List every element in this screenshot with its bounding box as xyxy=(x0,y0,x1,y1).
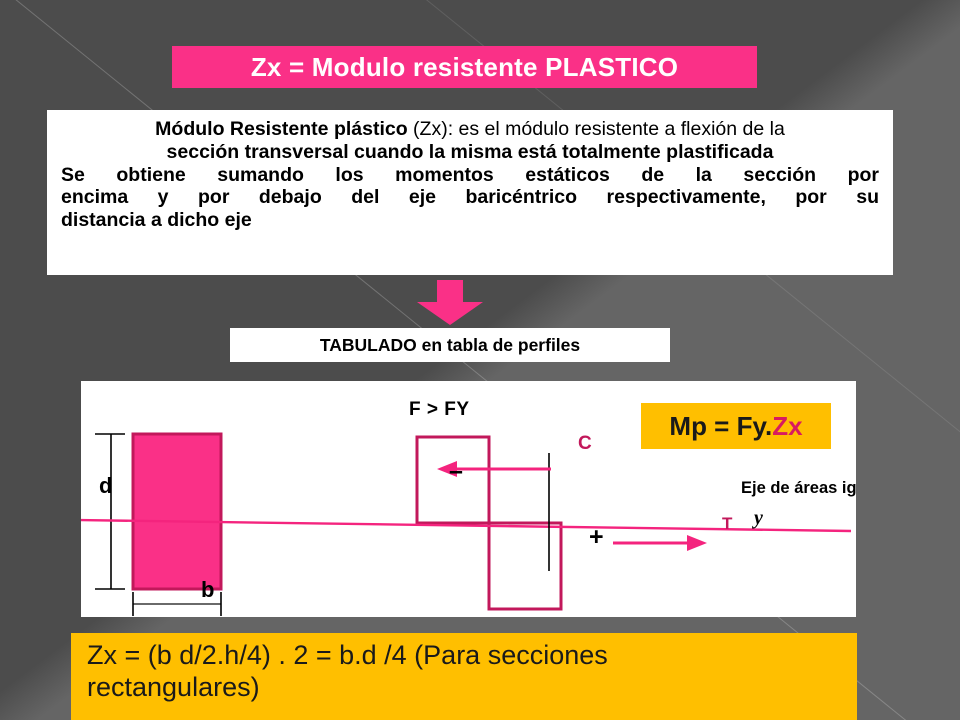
tension-force-arrowhead xyxy=(687,535,707,551)
stress-condition-label: F > FY xyxy=(409,399,470,421)
tension-force-label: T xyxy=(722,514,732,534)
definition-line-1: Módulo Resistente plástico (Zx): es el m… xyxy=(61,118,879,141)
mp-formula-zx: Zx xyxy=(772,411,802,441)
bottom-formula-box: Zx = (b d/2.h/4) . 2 = b.d /4 (Para secc… xyxy=(71,633,857,720)
slide-canvas: Zx = Modulo resistente PLASTICO Módulo R… xyxy=(0,0,960,720)
tabulado-label: TABULADO en tabla de perfiles xyxy=(320,335,580,356)
section-rectangle xyxy=(133,434,221,589)
definition-line-3-gap xyxy=(494,164,526,186)
definition-line-3-a: Se obtiene sumando los xyxy=(61,164,395,186)
definition-line-4: encima y por debajo del eje baricéntrico… xyxy=(61,186,879,209)
definition-line-3: Se obtiene sumando los momentos estático… xyxy=(61,164,879,187)
definition-line-3-e: de la sección por xyxy=(610,164,879,186)
dimension-label-b: b xyxy=(201,577,214,603)
title-banner: Zx = Modulo resistente PLASTICO xyxy=(172,46,757,88)
equal-area-axis-label: Eje de áreas iguales xyxy=(741,479,856,498)
tabulado-box: TABULADO en tabla de perfiles xyxy=(230,328,670,362)
page-title: Zx = Modulo resistente PLASTICO xyxy=(251,52,678,83)
definition-line-5: distancia a dicho eje xyxy=(61,209,879,232)
definition-emphasis-momentos: momentos xyxy=(395,164,494,186)
definition-line-2: sección transversal cuando la misma está… xyxy=(61,141,879,164)
down-arrow-icon xyxy=(414,280,486,326)
compression-sign-label: – xyxy=(449,457,463,486)
definition-term: Módulo Resistente plástico xyxy=(155,118,407,140)
lever-arm-symbol: y xyxy=(754,507,763,530)
diagram-panel: d b F > FY – + C T y Eje de áreas iguale… xyxy=(81,381,856,617)
tension-stress-block xyxy=(489,523,561,609)
definition-text-box: Módulo Resistente plástico (Zx): es el m… xyxy=(47,110,893,275)
definition-line-1-rest: (Zx): es el módulo resistente a flexión … xyxy=(408,118,785,140)
dimension-label-d: d xyxy=(99,473,112,499)
mp-formula-plain: Mp = Fy. xyxy=(669,411,772,441)
tension-sign-label: + xyxy=(589,523,604,552)
bottom-formula-line-1: Zx = (b d/2.h/4) . 2 = b.d /4 (Para secc… xyxy=(87,639,841,671)
mp-formula-box: Mp = Fy.Zx xyxy=(641,403,831,449)
compression-force-label: C xyxy=(578,433,592,455)
mp-formula-text: Mp = Fy.Zx xyxy=(669,411,802,442)
bottom-formula-line-2: rectangulares) xyxy=(87,671,841,703)
definition-emphasis-estaticos: estáticos xyxy=(525,164,610,186)
